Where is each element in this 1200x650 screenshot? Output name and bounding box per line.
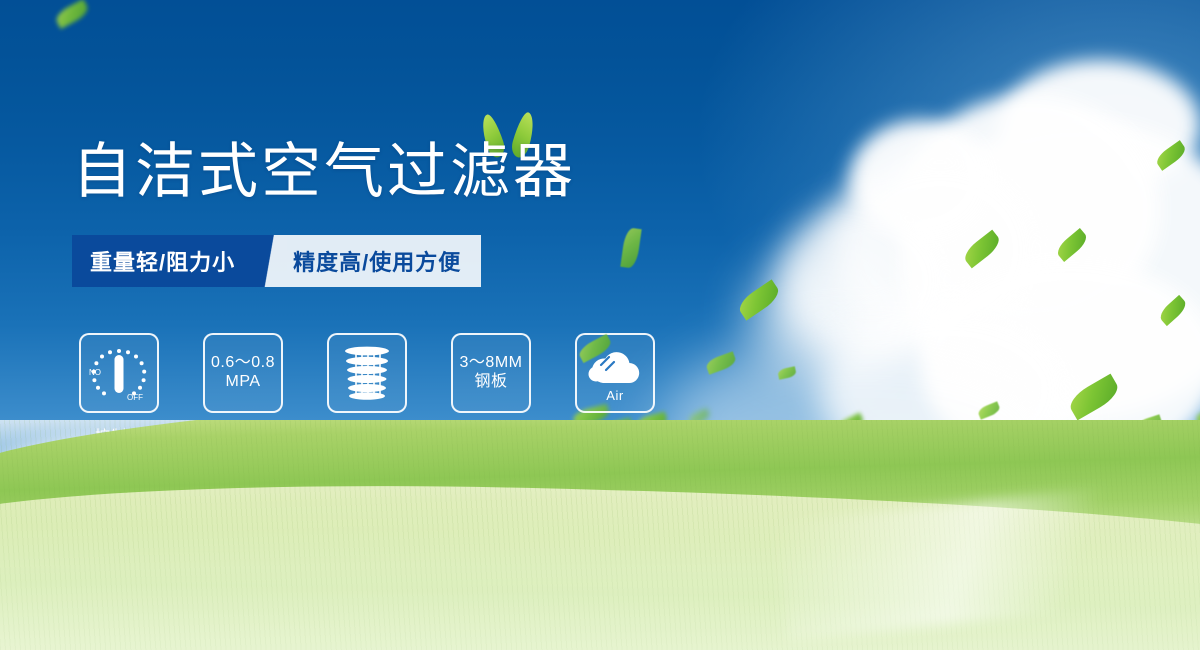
- feature-icon-line2: 钢板: [474, 373, 507, 392]
- product-banner: 自洁式空气过滤器 重量轻/阻力小 精度高/使用方便: [0, 0, 1200, 650]
- subtitle-right: 精度高/使用方便: [287, 235, 481, 287]
- subtitle-bar: 重量轻/阻力小 精度高/使用方便: [72, 235, 481, 287]
- feature-icon-line1: 0.6～0.8: [211, 354, 275, 373]
- subtitle-left: 重量轻/阻力小: [72, 235, 257, 287]
- gauge-off-label: OFF: [127, 393, 143, 402]
- grass-field: [0, 420, 1200, 650]
- gauge-on-label: NO: [89, 368, 101, 377]
- feature-icon-line2: MPA: [226, 373, 261, 392]
- page-title: 自洁式空气过滤器: [72, 142, 576, 202]
- feature-icon-line1: 3～8MM: [460, 354, 523, 373]
- feature-icon-box: NO OFF: [79, 333, 159, 413]
- feature-icon-line2: Air: [606, 388, 623, 403]
- feature-icon-box: 3～8MM 钢板: [451, 333, 531, 413]
- gauge-dial-icon: NO OFF: [84, 338, 154, 408]
- feature-icon-box: 0.6～0.8 MPA: [203, 333, 283, 413]
- subtitle-divider: [257, 235, 287, 287]
- filter-cartridge-icon: [334, 340, 400, 406]
- feature-icon-box: [327, 333, 407, 413]
